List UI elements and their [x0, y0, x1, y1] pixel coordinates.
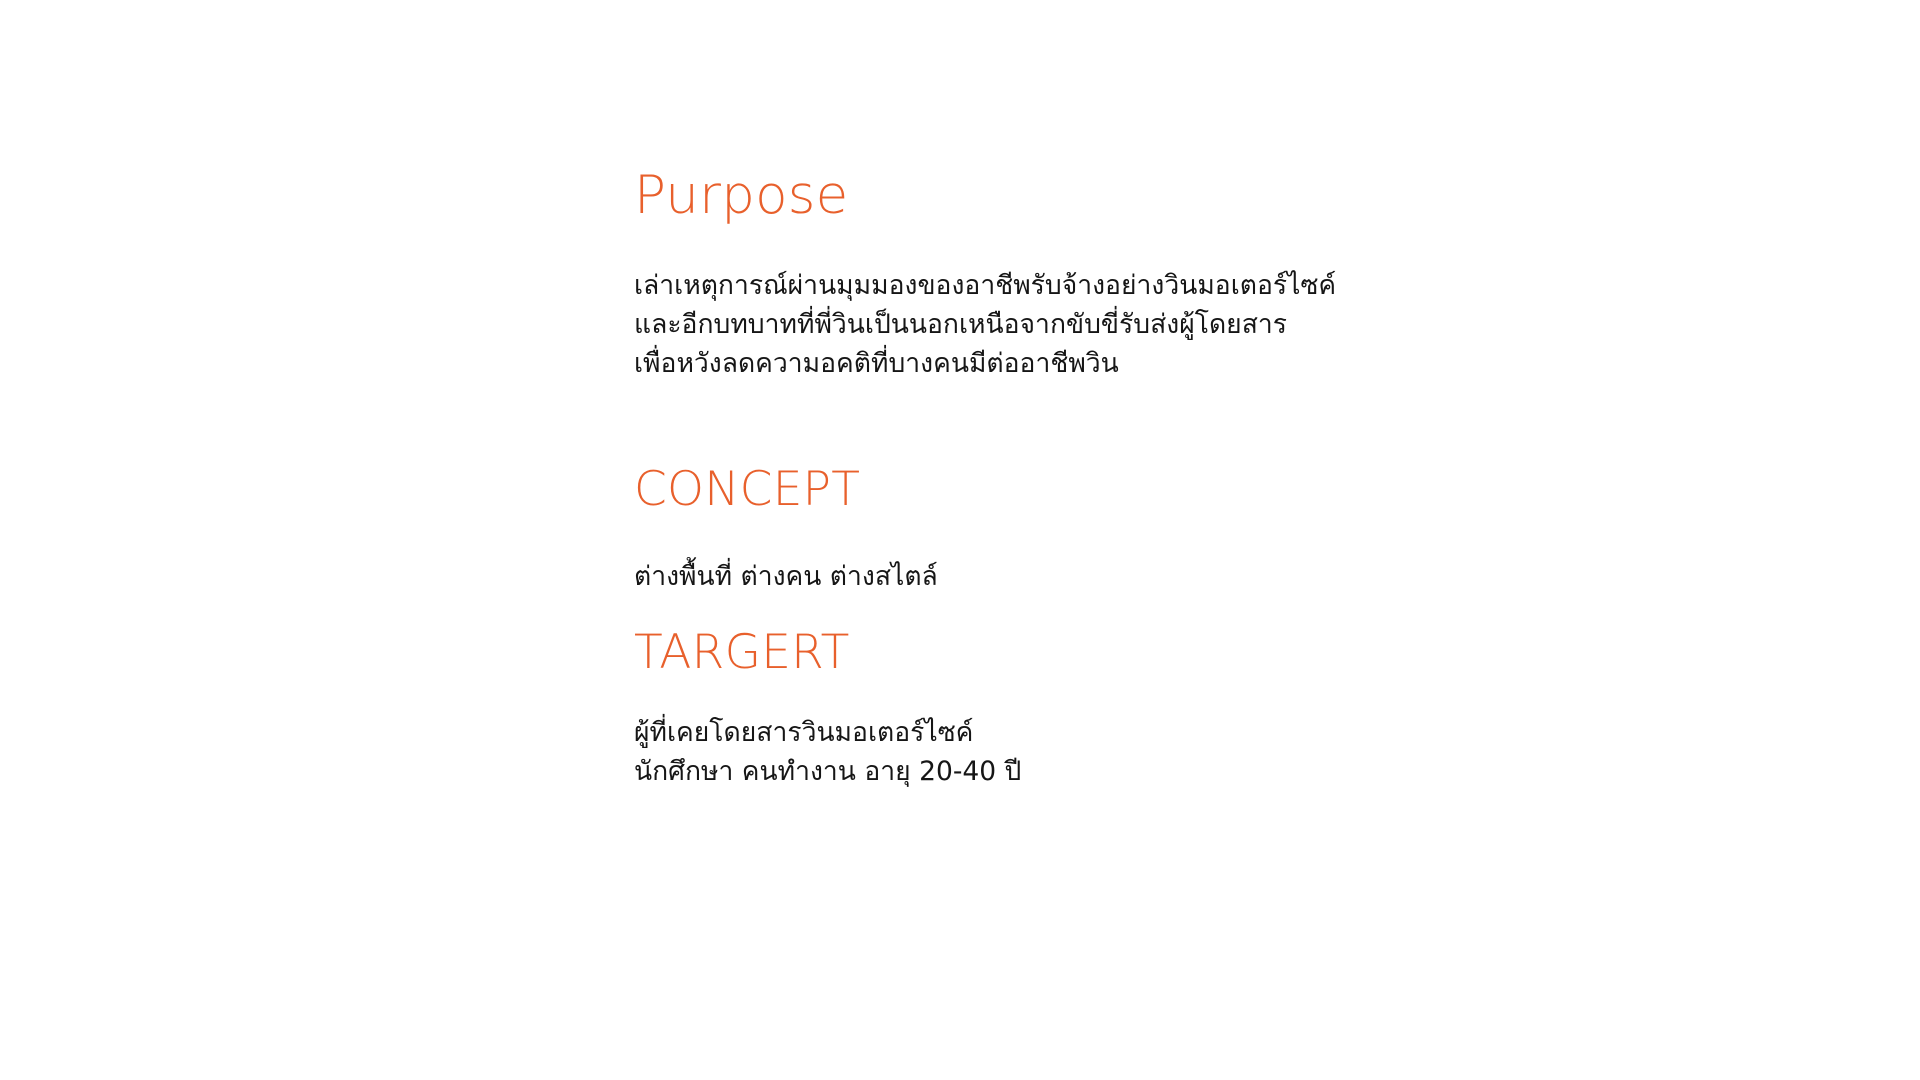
section-concept: CONCEPT ต่างพื้นที่ ต่างคน ต่างสไตล์ — [634, 465, 1534, 596]
target-body: ผู้ที่เคยโดยสารวินมอเตอร์ไซค์ นักศึกษา ค… — [634, 713, 1534, 791]
target-body-line-1: ผู้ที่เคยโดยสารวินมอเตอร์ไซค์ — [634, 713, 1534, 752]
purpose-body-line-3: เพื่อหวังลดความอคติที่บางคนมีต่ออาชีพวิน — [634, 344, 1534, 383]
purpose-body: เล่าเหตุการณ์ผ่านมุมมองของอาชีพรับจ้างอย… — [634, 266, 1534, 384]
spacer-purpose-to-concept — [634, 383, 1534, 465]
spacer-concept-heading — [634, 515, 1534, 557]
purpose-body-line-2: และอีกบทบาทที่พี่วินเป็นนอกเหนือจากขับขี… — [634, 305, 1534, 344]
target-heading: TARGERT — [634, 628, 1534, 677]
spacer-purpose-heading — [634, 224, 1534, 266]
concept-body: ต่างพื้นที่ ต่างคน ต่างสไตล์ — [634, 557, 1534, 596]
section-purpose: Purpose เล่าเหตุการณ์ผ่านมุมมองของอาชีพร… — [634, 168, 1534, 383]
concept-heading: CONCEPT — [634, 465, 1534, 514]
spacer-target-heading — [634, 677, 1534, 713]
target-body-line-2: นักศึกษา คนทำงาน อายุ 20-40 ปี — [634, 752, 1534, 791]
slide-canvas: Purpose เล่าเหตุการณ์ผ่านมุมมองของอาชีพร… — [0, 0, 1920, 1080]
content-column: Purpose เล่าเหตุการณ์ผ่านมุมมองของอาชีพร… — [634, 168, 1534, 792]
purpose-heading: Purpose — [634, 168, 1534, 224]
purpose-body-line-1: เล่าเหตุการณ์ผ่านมุมมองของอาชีพรับจ้างอย… — [634, 266, 1534, 305]
concept-body-line-1: ต่างพื้นที่ ต่างคน ต่างสไตล์ — [634, 557, 1534, 596]
spacer-concept-to-target — [634, 596, 1534, 628]
section-target: TARGERT ผู้ที่เคยโดยสารวินมอเตอร์ไซค์ นั… — [634, 628, 1534, 792]
